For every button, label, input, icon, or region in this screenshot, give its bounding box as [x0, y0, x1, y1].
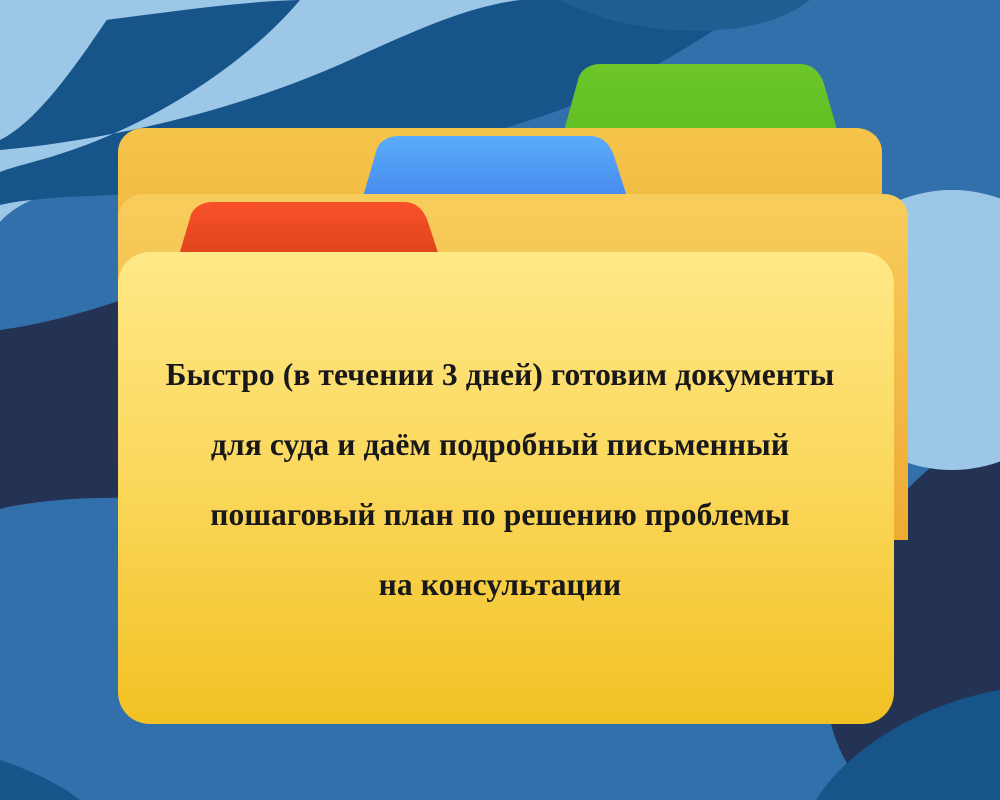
folder-stack-layer	[0, 0, 1000, 800]
folder-stack-svg	[0, 0, 1000, 800]
poster-canvas: Быстро (в течении 3 дней) готовим докуме…	[0, 0, 1000, 800]
folder-front	[118, 252, 894, 724]
